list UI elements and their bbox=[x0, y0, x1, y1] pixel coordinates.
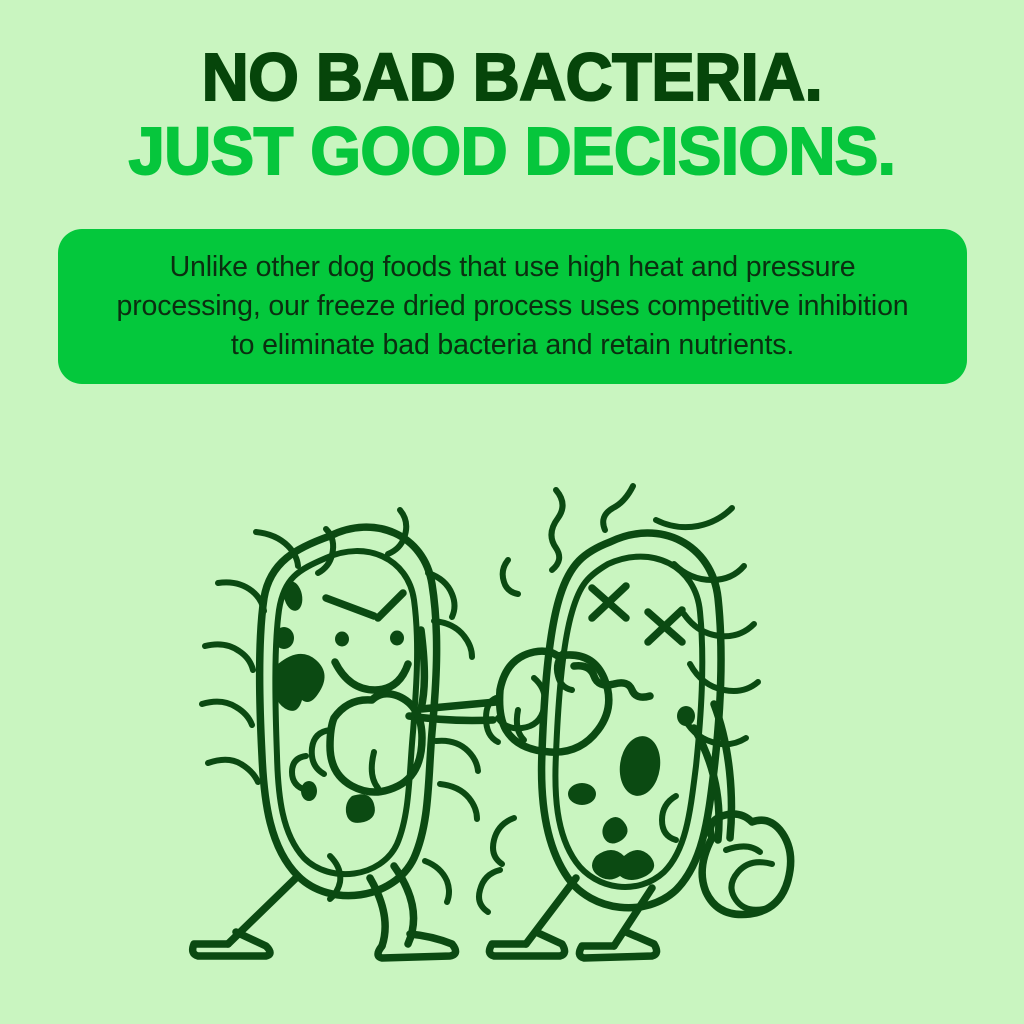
right-bacteria-shoulder-crease bbox=[662, 796, 676, 840]
left-bacteria-eye-right bbox=[390, 631, 404, 646]
right-bacteria-foot-left bbox=[489, 932, 564, 956]
bad-bacteria-loser bbox=[479, 486, 791, 958]
headline-line-2: JUST GOOD DECISIONS. bbox=[15, 118, 1008, 186]
left-bacteria-blob-small-2 bbox=[274, 627, 294, 649]
body-copy-panel: Unlike other dog foods that use high hea… bbox=[58, 229, 967, 384]
bacteria-boxing-illustration bbox=[178, 466, 846, 966]
body-copy-line-2: processing, our freeze dried process use… bbox=[117, 290, 909, 322]
bacteria-boxing-svg bbox=[178, 466, 846, 966]
right-bacteria-eyes-x bbox=[592, 586, 682, 642]
right-bacteria-blob-pair bbox=[592, 850, 654, 880]
right-bacteria-blob-large bbox=[616, 734, 664, 799]
right-bacteria-blob-small-1 bbox=[677, 706, 695, 726]
page-title: NO BAD BACTERIA. JUST GOOD DECISIONS. bbox=[15, 44, 1008, 187]
poster-canvas: NO BAD BACTERIA. JUST GOOD DECISIONS. Un… bbox=[0, 0, 1024, 1024]
body-copy-text: Unlike other dog foods that use high hea… bbox=[58, 248, 967, 365]
left-bacteria-brow-left bbox=[326, 598, 374, 616]
left-bacteria-foot-right bbox=[378, 934, 456, 958]
right-bacteria-blob-small-2 bbox=[568, 783, 596, 805]
body-copy-line-3: to eliminate bad bacteria and retain nut… bbox=[231, 329, 794, 361]
right-bacteria-blob-small-3 bbox=[602, 817, 627, 844]
headline-line-1: NO BAD BACTERIA. bbox=[15, 44, 1008, 112]
left-bacteria-brow-right bbox=[378, 593, 403, 618]
left-bacteria-mouth bbox=[335, 662, 408, 690]
left-bacteria-blob-large bbox=[274, 654, 325, 711]
left-bacteria-eye-left bbox=[335, 632, 349, 647]
right-bacteria-flagella bbox=[479, 486, 758, 912]
left-bacteria-blob-small-4 bbox=[346, 794, 375, 823]
body-copy-line-1: Unlike other dog foods that use high hea… bbox=[170, 251, 856, 283]
left-bacteria-guard-glove bbox=[292, 694, 422, 792]
